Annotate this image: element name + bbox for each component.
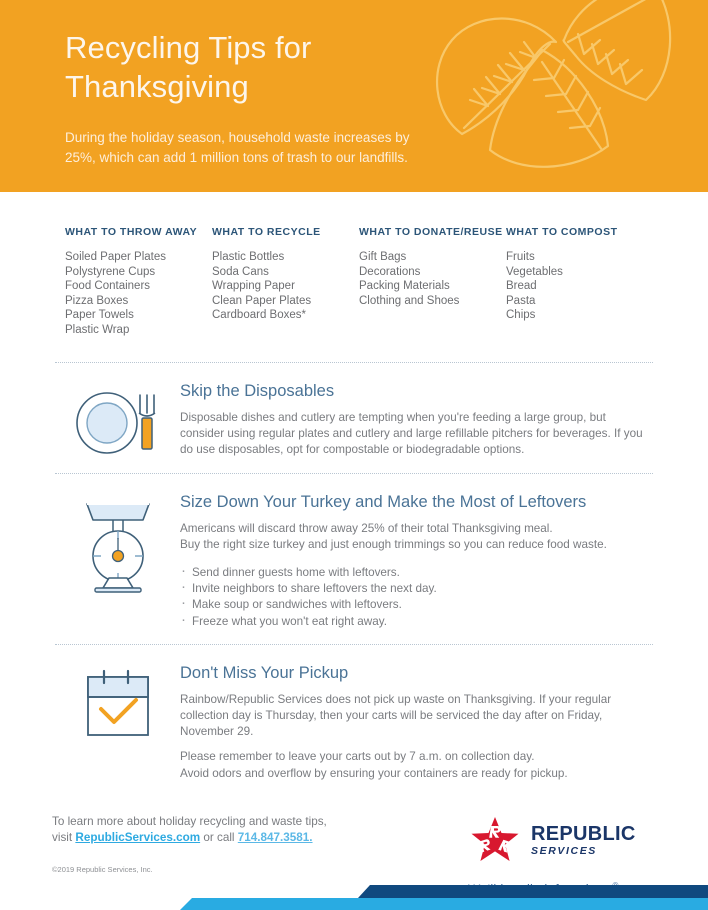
list-item: Pizza Boxes <box>65 294 212 309</box>
column-heading: WHAT TO RECYCLE <box>212 226 359 238</box>
list-item: Cardboard Boxes* <box>212 308 359 323</box>
footer-line-1: To learn more about holiday recycling an… <box>52 814 468 831</box>
page-title: Recycling Tips for Thanksgiving <box>65 28 425 106</box>
section-title: Don't Miss Your Pickup <box>180 663 653 683</box>
footer-line-2: visit RepublicServices.com or call 714.8… <box>52 830 468 847</box>
list-item: Clothing and Shoes <box>359 294 506 309</box>
plate-and-fork-icon <box>55 379 180 459</box>
list-item: Packing Materials <box>359 279 506 294</box>
list-item: Bread <box>506 279 666 294</box>
section-body: Size Down Your Turkey and Make the Most … <box>180 490 653 630</box>
section-paragraph: Avoid odors and overflow by ensuring you… <box>180 766 653 782</box>
bullet-item: Freeze what you won't eat right away. <box>180 614 653 630</box>
list-item: Clean Paper Plates <box>212 294 359 309</box>
logo-primary-text: REPUBLIC <box>531 824 636 844</box>
section-paragraph: Rainbow/Republic Services does not pick … <box>180 692 653 741</box>
section-paragraph: Please remember to leave your carts out … <box>180 749 653 765</box>
bullet-item: Invite neighbors to share leftovers the … <box>180 581 653 597</box>
list-item: Paper Towels <box>65 308 212 323</box>
republic-services-wordmark: REPUBLIC SERVICES <box>531 824 636 857</box>
section-paragraph: Disposable dishes and cutlery are tempti… <box>180 410 653 459</box>
list-item: Vegetables <box>506 265 666 280</box>
section-size-down-turkey: Size Down Your Turkey and Make the Most … <box>0 474 708 644</box>
calendar-check-icon <box>55 661 180 782</box>
list-item: Soda Cans <box>212 265 359 280</box>
bullet-item: Send dinner guests home with leftovers. <box>180 565 653 581</box>
category-columns: WHAT TO THROW AWAY Soiled Paper Plates P… <box>0 192 708 338</box>
section-body: Don't Miss Your Pickup Rainbow/Republic … <box>180 661 653 782</box>
list-item: Pasta <box>506 294 666 309</box>
section-title: Size Down Your Turkey and Make the Most … <box>180 492 653 512</box>
section-body: Skip the Disposables Disposable dishes a… <box>180 379 653 459</box>
column-compost: WHAT TO COMPOST Fruits Vegetables Bread … <box>506 226 666 338</box>
column-heading: WHAT TO THROW AWAY <box>65 226 212 238</box>
dark-navy-bar <box>358 885 708 898</box>
phone-link[interactable]: 714.847.3581. <box>238 831 313 844</box>
section-paragraph: Americans will discard throw away 25% of… <box>180 521 653 537</box>
footer-visit-label: visit <box>52 831 75 844</box>
column-donate-reuse: WHAT TO DONATE/REUSE Gift Bags Decoratio… <box>359 226 506 338</box>
kitchen-scale-icon <box>55 490 180 630</box>
list-item: Food Containers <box>65 279 212 294</box>
section-skip-disposables: Skip the Disposables Disposable dishes a… <box>0 363 708 473</box>
list-item: Fruits <box>506 250 666 265</box>
list-item: Decorations <box>359 265 506 280</box>
light-blue-bar <box>180 898 708 910</box>
section-title: Skip the Disposables <box>180 381 653 401</box>
section-bullet-list: Send dinner guests home with leftovers. … <box>180 565 653 630</box>
column-heading: WHAT TO DONATE/REUSE <box>359 226 506 238</box>
footer-contact-block: To learn more about holiday recycling an… <box>52 814 468 874</box>
list-item: Polystyrene Cups <box>65 265 212 280</box>
list-item: Wrapping Paper <box>212 279 359 294</box>
list-item: Chips <box>506 308 666 323</box>
column-heading: WHAT TO COMPOST <box>506 226 666 238</box>
logo-secondary-text: SERVICES <box>531 846 636 857</box>
list-item: Soiled Paper Plates <box>65 250 212 265</box>
list-item: Plastic Wrap <box>65 323 212 338</box>
list-item: Gift Bags <box>359 250 506 265</box>
page-subtitle: During the holiday season, household was… <box>65 128 440 168</box>
column-throw-away: WHAT TO THROW AWAY Soiled Paper Plates P… <box>65 226 212 338</box>
bottom-decorative-bars <box>0 870 708 910</box>
section-paragraph: Buy the right size turkey and just enoug… <box>180 537 653 553</box>
bullet-item: Make soup or sandwiches with leftovers. <box>180 597 653 613</box>
republic-star-logo-icon <box>468 816 522 864</box>
section-dont-miss-pickup: Don't Miss Your Pickup Rainbow/Republic … <box>0 645 708 796</box>
list-item: Plastic Bottles <box>212 250 359 265</box>
footer-or-call-label: or call <box>200 831 238 844</box>
website-link[interactable]: RepublicServices.com <box>75 831 200 844</box>
page-header: Recycling Tips for Thanksgiving During t… <box>0 0 708 192</box>
column-recycle: WHAT TO RECYCLE Plastic Bottles Soda Can… <box>212 226 359 338</box>
